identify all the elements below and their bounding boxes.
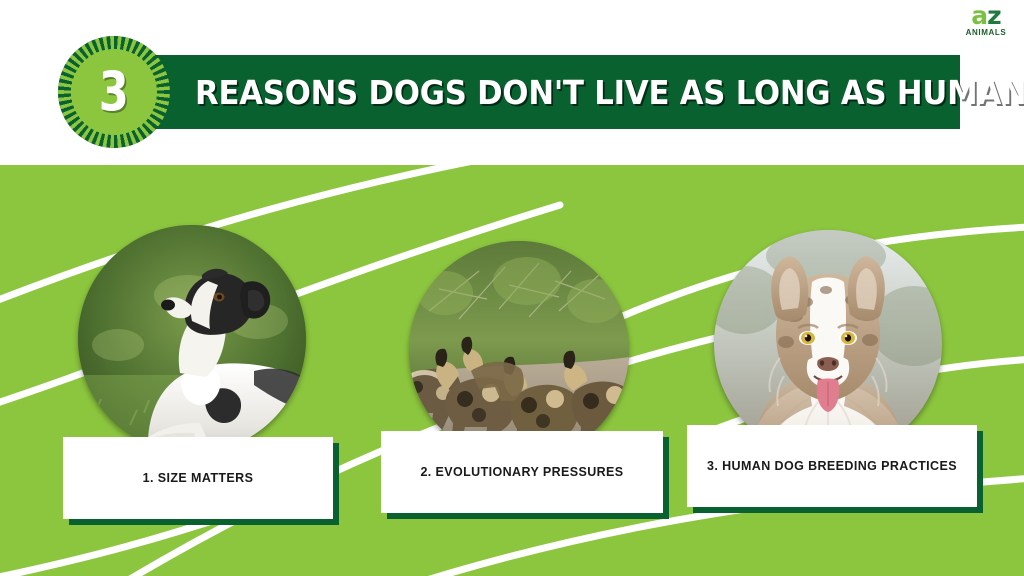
reason-label-1: 1. SIZE MATTERS (143, 471, 254, 485)
merle-shepherd-photo (714, 230, 942, 458)
reason-label-2: 2. EVOLUTIONARY PRESSURES (420, 465, 623, 479)
reason-column-3: 3. HUMAN DOG BREEDING PRACTICES (672, 165, 1002, 576)
logo-letter-z: z (987, 1, 1001, 30)
az-animals-logo[interactable]: az ANIMALS (960, 4, 1012, 40)
reason-card-1[interactable]: 1. SIZE MATTERS (63, 437, 333, 519)
infographic-canvas: az ANIMALS REASONS DOGS DON'T LIVE AS LO… (0, 0, 1024, 576)
reason-column-1: 1. SIZE MATTERS (50, 165, 380, 576)
great-dane-photo (78, 225, 306, 453)
page-title: REASONS DOGS DON'T LIVE AS LONG AS HUMAN… (195, 73, 1024, 112)
body-zone: 1. SIZE MATTERS (0, 165, 1024, 576)
reason-label-3: 3. HUMAN DOG BREEDING PRACTICES (707, 459, 957, 473)
reason-card-3[interactable]: 3. HUMAN DOG BREEDING PRACTICES (687, 425, 977, 507)
reason-column-2: 2. EVOLUTIONARY PRESSURES (362, 165, 692, 576)
logo-wordmark: ANIMALS (960, 29, 1012, 37)
badge-number: 3 (99, 65, 129, 119)
logo-letter-a: a (971, 1, 987, 30)
reason-card-2[interactable]: 2. EVOLUTIONARY PRESSURES (381, 431, 663, 513)
logo-mark: az (960, 4, 1012, 28)
count-badge: 3 (63, 41, 165, 143)
title-banner: REASONS DOGS DON'T LIVE AS LONG AS HUMAN… (95, 55, 960, 129)
header-zone: az ANIMALS REASONS DOGS DON'T LIVE AS LO… (0, 0, 1024, 165)
african-wild-dogs-photo (409, 241, 629, 461)
